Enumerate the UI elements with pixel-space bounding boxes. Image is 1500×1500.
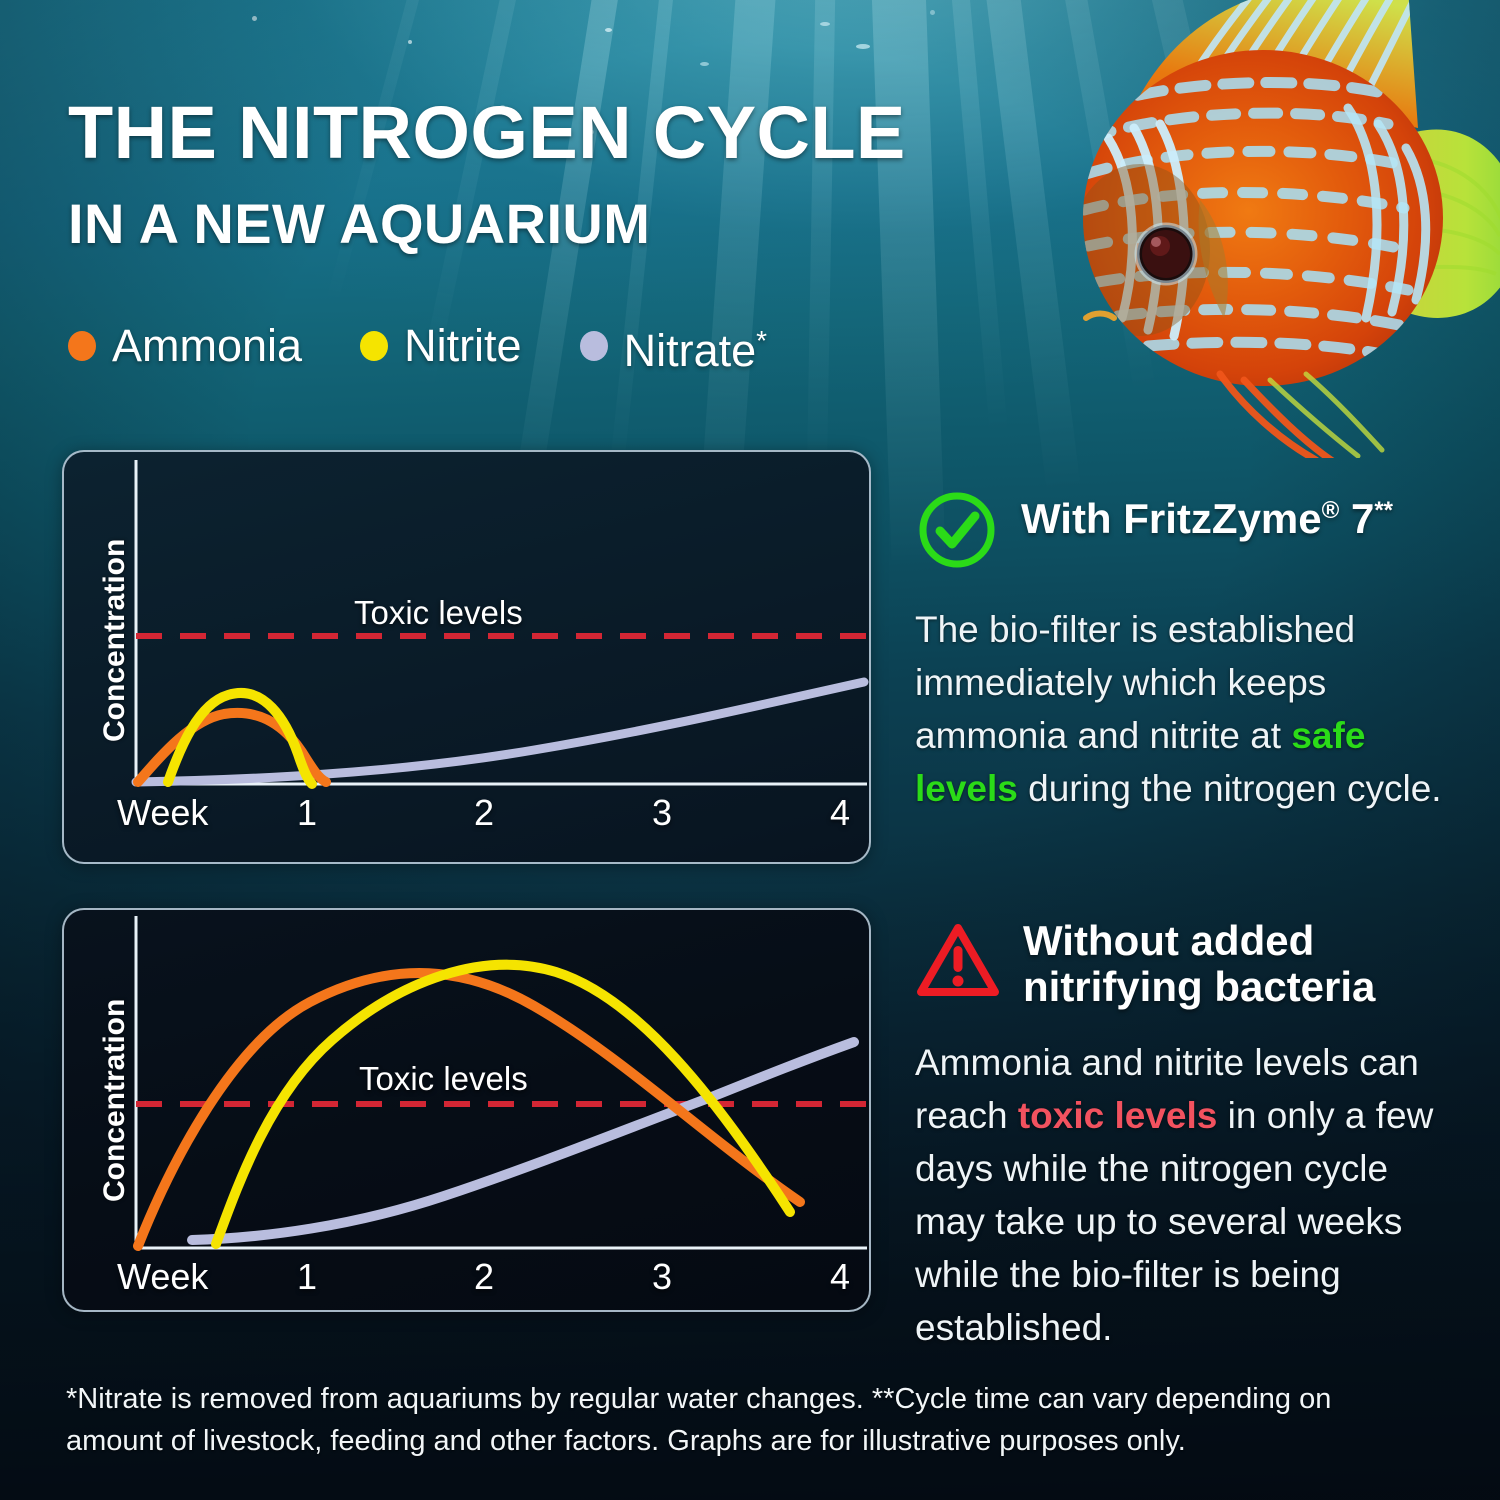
registered-mark: ® xyxy=(1322,497,1340,524)
page-title: THE NITROGEN CYCLE xyxy=(68,96,906,170)
warning-triangle-icon xyxy=(915,918,1001,1009)
chart2-xtick-3: 3 xyxy=(652,1256,672,1298)
chart2-xtick-week: Week xyxy=(117,1256,208,1298)
panel1-body-seg3: during the nitrogen cycle. xyxy=(1018,768,1442,809)
chart2-xtick-1: 1 xyxy=(297,1256,317,1298)
legend-item-ammonia: Ammonia xyxy=(68,323,302,368)
series-line-nitrite xyxy=(168,693,312,784)
nitrate-footnote-marker: * xyxy=(756,325,767,356)
chart2-toxic-levels-label: Toxic levels xyxy=(359,1060,528,1098)
panel-with-fritzzyme: With FritzZyme® 7** The bio-filter is es… xyxy=(915,488,1445,815)
chart1-xtick-week: Week xyxy=(117,792,208,834)
panel2-title-line1: Without added xyxy=(1023,917,1314,964)
chart2-xtick-4: 4 xyxy=(830,1256,850,1298)
panel2-body: Ammonia and nitrite levels can reach tox… xyxy=(915,1036,1455,1354)
chart2-y-axis-label: Concentration xyxy=(98,999,132,1202)
chart1-xtick-4: 4 xyxy=(830,792,850,834)
discus-fish-image xyxy=(1048,0,1500,458)
panel1-body-seg1: The bio-filter is established immediatel… xyxy=(915,609,1355,756)
series-legend: Ammonia Nitrite Nitrate* xyxy=(68,318,825,373)
chart1-y-axis-label: Concentration xyxy=(98,539,132,742)
panel1-body: The bio-filter is established immediatel… xyxy=(915,603,1445,815)
chart1-xtick-1: 1 xyxy=(297,792,317,834)
panel1-title: With FritzZyme® 7** xyxy=(1021,488,1393,542)
check-circle-icon xyxy=(915,488,999,577)
legend-dot-nitrate xyxy=(580,331,608,361)
chart1-xtick-2: 2 xyxy=(474,792,494,834)
panel1-header: With FritzZyme® 7** xyxy=(915,488,1445,577)
legend-label-nitrate: Nitrate* xyxy=(624,318,767,373)
chart-card-without-bacteria: Concentration Toxic levels Week 1 2 3 4 xyxy=(62,908,871,1312)
legend-label-ammonia: Ammonia xyxy=(112,323,302,368)
chart1-toxic-levels-label: Toxic levels xyxy=(354,594,523,632)
panel2-title-line2: nitrifying bacteria xyxy=(1023,963,1375,1010)
legend-item-nitrate: Nitrate* xyxy=(580,318,767,373)
infographic-root: THE NITROGEN CYCLE IN A NEW AQUARIUM Amm… xyxy=(0,0,1500,1500)
legend-label-nitrite: Nitrite xyxy=(404,323,522,368)
chart1-xtick-3: 3 xyxy=(652,792,672,834)
footnote-text: *Nitrate is removed from aquariums by re… xyxy=(66,1378,1426,1462)
chart2-xtick-2: 2 xyxy=(474,1256,494,1298)
panel-without-bacteria: Without added nitrifying bacteria Ammoni… xyxy=(915,918,1455,1354)
chart-card-with-fritzzyme: Concentration Toxic levels Week 1 2 3 4 xyxy=(62,450,871,864)
legend-item-nitrite: Nitrite xyxy=(360,323,522,368)
series-line-ammonia xyxy=(138,973,800,1246)
panel1-footnote-marker: ** xyxy=(1374,497,1393,524)
page-subtitle: IN A NEW AQUARIUM xyxy=(68,196,650,252)
panel2-header: Without added nitrifying bacteria xyxy=(915,918,1455,1010)
legend-dot-nitrite xyxy=(360,331,388,361)
panel2-highlight-toxic-levels: toxic levels xyxy=(1018,1095,1218,1136)
legend-dot-ammonia xyxy=(68,331,96,361)
panel2-title: Without added nitrifying bacteria xyxy=(1023,918,1375,1010)
